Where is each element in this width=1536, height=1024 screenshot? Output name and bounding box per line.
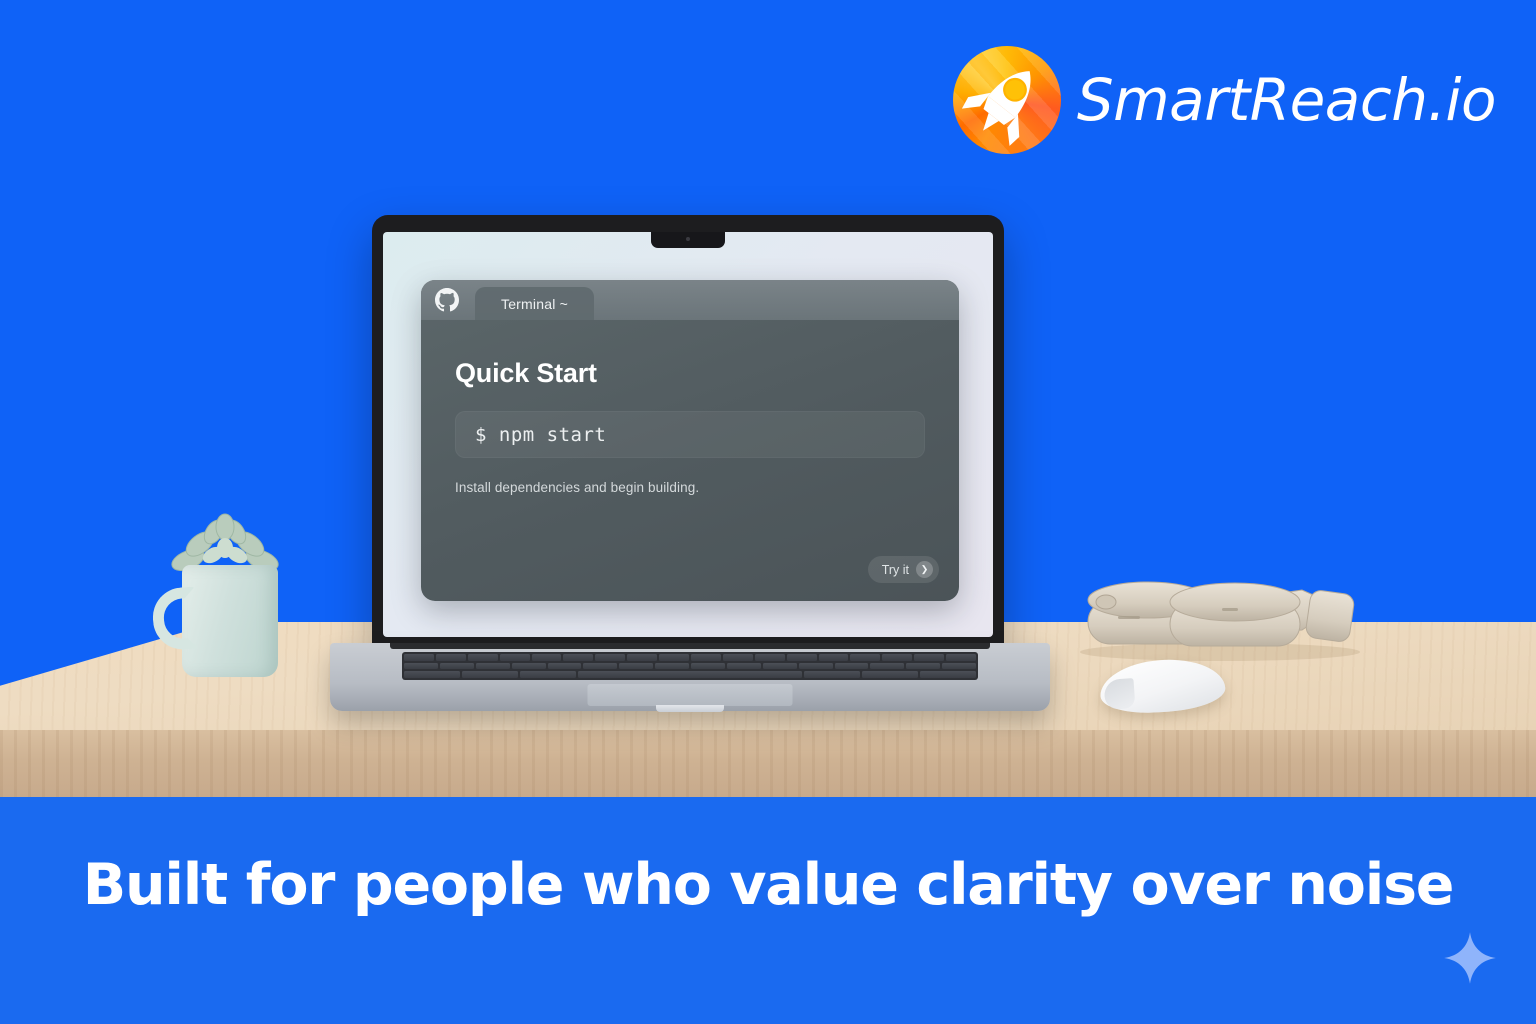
key [520, 671, 576, 678]
chevron-right-circle-icon: ❯ [916, 561, 933, 578]
key [862, 671, 918, 678]
quick-start-heading: Quick Start [455, 358, 925, 389]
key [850, 654, 880, 661]
mug-with-succulent [148, 510, 298, 680]
key [468, 654, 498, 661]
terminal-window: Terminal ~ Quick Start $ npm start Insta… [421, 280, 959, 601]
key [583, 663, 617, 670]
laptop-base [330, 643, 1050, 711]
key [548, 663, 582, 670]
webcam-notch [651, 232, 725, 248]
key [920, 671, 976, 678]
key [763, 663, 797, 670]
key [512, 663, 546, 670]
key [691, 663, 725, 670]
sparkle-icon [1442, 930, 1498, 986]
desk-edge [0, 730, 1536, 797]
try-it-label: Try it [882, 563, 909, 577]
key [804, 671, 860, 678]
key [727, 663, 761, 670]
command-input[interactable]: $ npm start [455, 411, 925, 458]
key [595, 654, 625, 661]
brand-logo[interactable]: SmartReach.io [953, 46, 1496, 154]
laptop: Terminal ~ Quick Start $ npm start Insta… [330, 205, 1050, 715]
footer-headline: Built for people who value clarity over … [0, 852, 1536, 918]
mug-handle [151, 587, 199, 652]
laptop-trackpad[interactable] [588, 684, 793, 706]
github-icon [435, 288, 459, 312]
keyboard-row [404, 671, 976, 678]
terminal-body: Quick Start $ npm start Install dependen… [421, 320, 959, 601]
laptop-hinge [390, 643, 990, 649]
terminal-tab-label: Terminal ~ [501, 296, 568, 312]
laptop-front-lip [656, 705, 724, 712]
key [870, 663, 904, 670]
key [819, 654, 849, 661]
key [906, 663, 940, 670]
key [619, 663, 653, 670]
key [835, 663, 869, 670]
key [787, 654, 817, 661]
quick-start-description: Install dependencies and begin building. [455, 480, 925, 495]
key [914, 654, 944, 661]
key [462, 671, 518, 678]
key [440, 663, 474, 670]
key [946, 654, 976, 661]
poster-canvas: Terminal ~ Quick Start $ npm start Insta… [0, 0, 1536, 1024]
spacebar-key [578, 671, 802, 678]
key [404, 654, 434, 661]
key [659, 654, 689, 661]
keyboard-row [404, 663, 976, 670]
laptop-keyboard[interactable] [402, 652, 978, 680]
rocket-icon [953, 46, 1061, 154]
key [436, 654, 466, 661]
laptop-screen: Terminal ~ Quick Start $ npm start Insta… [383, 232, 993, 637]
key [532, 654, 562, 661]
desk-edge-grain [0, 730, 1536, 797]
key [882, 654, 912, 661]
key [500, 654, 530, 661]
key [627, 654, 657, 661]
command-text: $ npm start [475, 424, 606, 446]
brand-name: SmartReach.io [1077, 66, 1496, 134]
key [755, 654, 785, 661]
key [404, 671, 460, 678]
key [942, 663, 976, 670]
try-it-button[interactable]: Try it ❯ [868, 556, 939, 583]
webcam-lens-icon [686, 237, 690, 241]
key [799, 663, 833, 670]
terminal-titlebar: Terminal ~ [421, 280, 959, 320]
key [476, 663, 510, 670]
terminal-tab[interactable]: Terminal ~ [475, 287, 594, 320]
laptop-lid: Terminal ~ Quick Start $ npm start Insta… [372, 215, 1004, 647]
headphones [1070, 572, 1370, 662]
key [404, 663, 438, 670]
key [691, 654, 721, 661]
keyboard-row [404, 654, 976, 661]
key [723, 654, 753, 661]
key [655, 663, 689, 670]
key [563, 654, 593, 661]
